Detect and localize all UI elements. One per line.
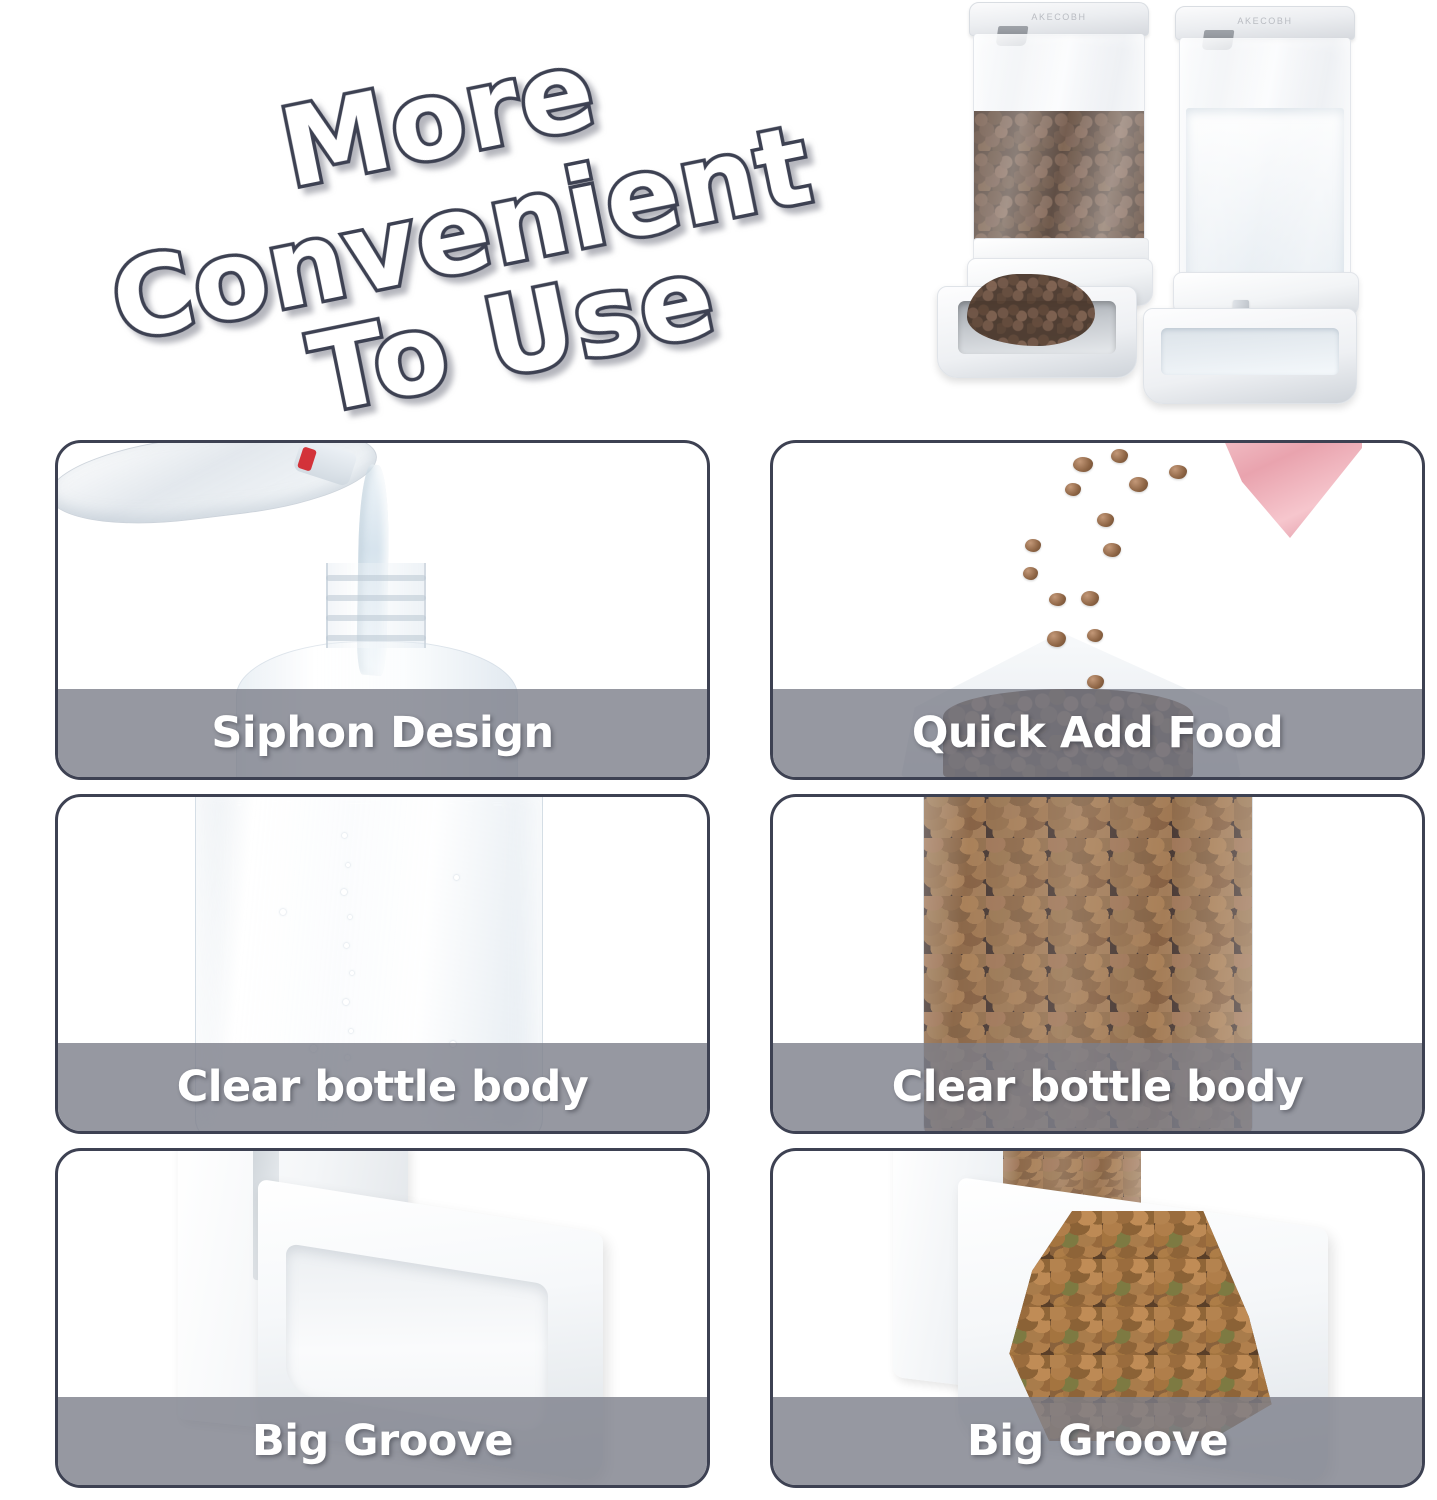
big-groove-food-caption-bar: Big Groove	[773, 1397, 1422, 1485]
headline-block: More Convenient To Use	[0, 0, 963, 478]
feature-panel-big-groove-water: Big Groove	[55, 1148, 710, 1488]
product-infographic: More Convenient To Use AKECOBH AKEC	[0, 0, 1437, 1500]
water-unit-brand-text: AKECOBH	[1176, 16, 1354, 26]
big-groove-water-caption-text: Big Groove	[252, 1416, 513, 1466]
feature-panel-quick-add-food: Quick Add Food	[770, 440, 1425, 780]
falling-kibble	[1065, 483, 1081, 496]
water-bubble	[343, 999, 349, 1005]
falling-kibble	[1097, 513, 1114, 527]
falling-kibble	[1103, 543, 1121, 557]
water-unit-lid: AKECOBH	[1175, 6, 1355, 40]
food-unit-lid: AKECOBH	[969, 2, 1149, 36]
clear-bottle-body-water-caption-text: Clear bottle body	[177, 1062, 589, 1112]
food-unit-tank-gloss	[974, 34, 1144, 259]
water-bubble	[346, 863, 350, 867]
headline-line-1: More Convenient	[0, 0, 944, 388]
feature-panel-big-groove-food: Big Groove	[770, 1148, 1425, 1488]
big-groove-water-caption-bar: Big Groove	[58, 1397, 707, 1485]
bottle-thread-3	[326, 615, 426, 621]
water-unit-tank	[1179, 38, 1351, 286]
siphon-design-caption-text: Siphon Design	[211, 708, 553, 758]
big-groove-food-caption-text: Big Groove	[967, 1416, 1228, 1466]
feature-panel-clear-bottle-body-food: Clear bottle body	[770, 794, 1425, 1134]
falling-kibble	[1049, 593, 1066, 606]
water-bubble	[454, 875, 459, 880]
pink-food-bag	[1212, 443, 1362, 538]
water-unit-bowl-water	[1161, 328, 1339, 375]
falling-kibble	[1087, 629, 1103, 642]
water-bubble	[344, 943, 349, 948]
falling-kibble	[1111, 449, 1128, 463]
food-unit-brand-text: AKECOBH	[970, 12, 1148, 22]
water-bubble	[341, 889, 347, 895]
food-unit-kibble-pile	[967, 274, 1095, 346]
falling-kibble	[1169, 465, 1187, 479]
water-bubble	[342, 833, 347, 838]
bottle-thread-2	[326, 595, 426, 601]
water-bubble	[349, 1029, 353, 1033]
bottle-thread-4	[326, 635, 426, 641]
falling-kibble	[1025, 539, 1041, 552]
clear-bottle-body-food-caption-bar: Clear bottle body	[773, 1043, 1422, 1131]
hero-product-photo: AKECOBH AKECOBH	[925, 0, 1437, 425]
water-bubble	[280, 909, 286, 915]
clear-bottle-body-water-caption-bar: Clear bottle body	[58, 1043, 707, 1131]
falling-kibble	[1047, 631, 1066, 647]
water-bubble	[348, 915, 352, 919]
feature-panel-clear-bottle-body-water: Clear bottle body	[55, 794, 710, 1134]
falling-kibble	[1073, 457, 1093, 472]
feature-panel-grid: Siphon Design	[55, 440, 1425, 1488]
water-unit-tank-gloss	[1180, 38, 1350, 285]
falling-kibble	[1081, 591, 1099, 606]
falling-kibble	[1023, 567, 1038, 580]
clear-bottle-body-food-caption-text: Clear bottle body	[892, 1062, 1304, 1112]
quick-add-food-caption-text: Quick Add Food	[912, 708, 1283, 758]
hero-water-dispenser: AKECOBH	[1125, 0, 1425, 415]
bottle-thread-1	[326, 575, 426, 581]
water-bubble	[350, 971, 354, 975]
falling-kibble	[1129, 477, 1148, 492]
falling-kibble	[1087, 675, 1104, 689]
quick-add-food-caption-bar: Quick Add Food	[773, 689, 1422, 777]
food-unit-tank	[973, 34, 1145, 260]
siphon-design-caption-bar: Siphon Design	[58, 689, 707, 777]
water-unit-bowl	[1143, 308, 1357, 404]
feature-panel-siphon-design: Siphon Design	[55, 440, 710, 780]
